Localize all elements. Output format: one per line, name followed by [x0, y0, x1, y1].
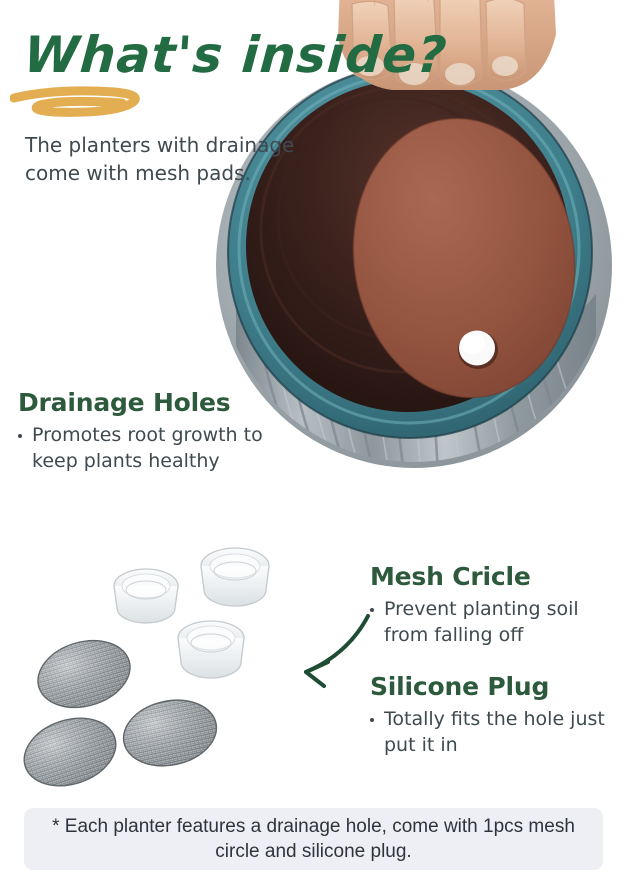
gold-underline-swoosh-icon — [10, 86, 160, 122]
intro-text: The planters with drainage come with mes… — [25, 132, 325, 187]
mesh-circle — [117, 692, 222, 774]
silicone-plug — [114, 569, 178, 623]
bullet-text: Promotes root growth to keep plants heal… — [32, 424, 263, 472]
infographic-canvas: What's inside? The planters with drainag… — [0, 0, 627, 879]
section-mesh-circle: Mesh Cricle Prevent planting soil from f… — [370, 562, 620, 648]
planter-base-disc — [336, 104, 593, 412]
drainage-hole — [458, 331, 498, 370]
list-item: Totally fits the hole just put it in — [370, 707, 620, 758]
planter-interior — [246, 80, 570, 412]
section-heading: Silicone Plug — [370, 672, 620, 701]
curved-arrow-left-icon — [252, 604, 372, 704]
silicone-plug-group — [114, 548, 269, 678]
section-bullets: Totally fits the hole just put it in — [370, 707, 620, 758]
parts-photo — [18, 528, 308, 798]
bullet-dot-icon — [370, 608, 374, 612]
section-heading: Drainage Holes — [18, 388, 278, 417]
bullet-dot-icon — [370, 718, 374, 722]
mesh-circle-group — [18, 630, 223, 797]
planter-rim — [228, 66, 592, 438]
footer-note-box: * Each planter features a drainage hole,… — [24, 808, 603, 870]
section-bullets: Prevent planting soil from falling off — [370, 597, 620, 648]
silicone-plug — [201, 548, 269, 606]
mesh-circle — [30, 630, 138, 717]
bullet-text: Prevent planting soil from falling off — [384, 598, 579, 646]
bullet-dot-icon — [18, 434, 22, 438]
bullet-text: Totally fits the hole just put it in — [384, 708, 605, 756]
footer-note-text: * Each planter features a drainage hole,… — [24, 814, 603, 864]
mesh-circle — [18, 707, 125, 797]
section-bullets: Promotes root growth to keep plants heal… — [18, 423, 278, 474]
list-item: Prevent planting soil from falling off — [370, 597, 620, 648]
page-title: What's inside? — [22, 26, 449, 84]
section-heading: Mesh Cricle — [370, 562, 620, 591]
section-silicone-plug: Silicone Plug Totally fits the hole just… — [370, 672, 620, 758]
list-item: Promotes root growth to keep plants heal… — [18, 423, 278, 474]
silicone-plug — [178, 621, 244, 678]
section-drainage-holes: Drainage Holes Promotes root growth to k… — [18, 388, 278, 474]
